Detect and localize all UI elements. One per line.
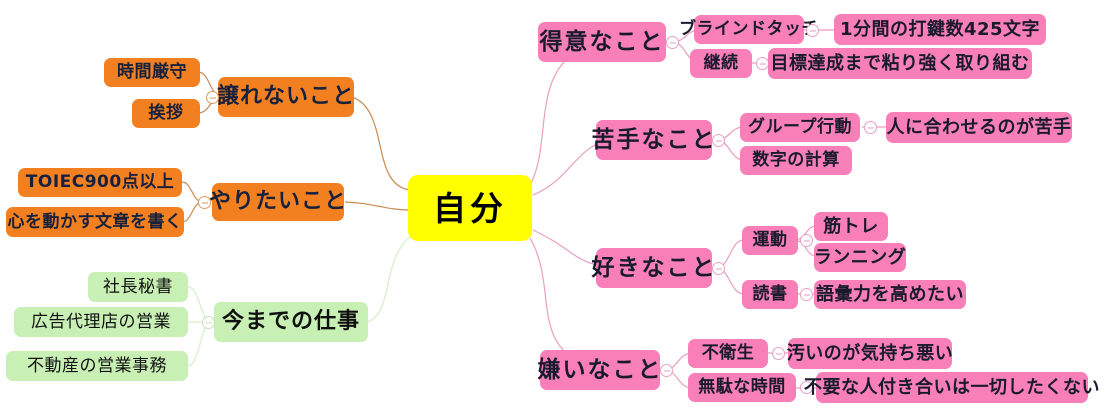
leaf-node-strength-training[interactable]: 筋トレ [814, 212, 888, 241]
child-label: 時間厳守 [117, 64, 187, 81]
collapse-toggle-kirai[interactable] [660, 364, 673, 377]
branch-label: 得意なこと [540, 31, 665, 54]
child-label: 無駄な時間 [698, 379, 786, 396]
child-node-secretary[interactable]: 社長秘書 [88, 272, 188, 302]
child-label: ブラインドタッチ [679, 21, 819, 38]
leaf-node-perseverance[interactable]: 目標達成まで粘り強く取り組む [768, 48, 1032, 79]
leaf-label: 不要な人付き合いは一切したくない [804, 379, 1100, 397]
branch-node-yaritai[interactable]: やりたいこと [212, 183, 344, 221]
branch-label: 譲れないこと [217, 86, 355, 108]
leaf-node-hard-to-adapt[interactable]: 人に合わせるのが苦手 [886, 112, 1072, 143]
branch-node-shigoto[interactable]: 今までの仕事 [214, 302, 368, 342]
child-node-realestate-admin[interactable]: 不動産の営業事務 [6, 351, 188, 381]
collapse-toggle-yuzurenai[interactable] [206, 91, 219, 104]
leaf-node-typing-speed[interactable]: 1分間の打鍵数425文字 [834, 14, 1046, 45]
root-node[interactable]: 自分 [408, 175, 532, 241]
branch-node-kirai[interactable]: 嫌いなこと [540, 350, 660, 390]
child-node-reading[interactable]: 読書 [742, 280, 798, 309]
collapse-toggle-yaritai[interactable] [198, 196, 211, 209]
collapse-toggle-suki[interactable] [712, 262, 725, 275]
child-label: 継続 [704, 55, 739, 72]
root-label: 自分 [433, 192, 507, 225]
child-node-blind-touch[interactable]: ブラインドタッチ [694, 15, 804, 44]
branch-node-suki[interactable]: 好きなこと [596, 248, 712, 288]
collapse-toggle-unsanitary[interactable] [772, 347, 785, 360]
leaf-node-dirty-uncomfortable[interactable]: 汚いのが気持ち悪い [788, 338, 952, 369]
child-label: 心を動かす文章を書く [8, 214, 183, 231]
branch-label: 嫌いなこと [538, 359, 663, 382]
branch-label: やりたいこと [209, 191, 347, 213]
leaf-node-running[interactable]: ランニング [814, 243, 906, 272]
branch-node-nigate[interactable]: 苦手なこと [596, 120, 712, 160]
child-label: 挨拶 [149, 105, 184, 122]
collapse-toggle-blind-touch[interactable] [806, 24, 819, 37]
child-label: 運動 [753, 232, 788, 249]
branch-label: 苦手なこと [592, 129, 717, 152]
child-node-ad-agency-sales[interactable]: 広告代理店の営業 [14, 307, 188, 337]
collapse-toggle-group-action[interactable] [864, 121, 877, 134]
leaf-node-vocabulary[interactable]: 語彙力を高めたい [814, 280, 966, 309]
branch-label: 今までの仕事 [222, 311, 360, 333]
collapse-toggle-shigoto[interactable] [202, 316, 215, 329]
leaf-label: 1分間の打鍵数425文字 [840, 21, 1040, 39]
leaf-label: 人に合わせるのが苦手 [887, 119, 1072, 137]
child-node-math[interactable]: 数字の計算 [740, 146, 852, 175]
leaf-node-no-unnecessary-socializing[interactable]: 不要な人付き合いは一切したくない [816, 372, 1088, 403]
branch-node-yuzurenai[interactable]: 譲れないこと [218, 77, 354, 117]
child-node-unsanitary[interactable]: 不衛生 [688, 339, 768, 368]
child-node-writing[interactable]: 心を動かす文章を書く [6, 207, 184, 237]
branch-node-tokui[interactable]: 得意なこと [538, 22, 666, 62]
child-label: 不衛生 [702, 345, 755, 362]
collapse-toggle-reading[interactable] [800, 288, 813, 301]
child-label: グループ行動 [748, 119, 852, 136]
collapse-toggle-nigate[interactable] [712, 134, 725, 147]
leaf-label: 目標達成まで粘り強く取り組む [771, 55, 1030, 73]
child-node-keizoku[interactable]: 継続 [690, 49, 752, 78]
child-label: TOIEC900点以上 [26, 174, 174, 191]
leaf-label: 筋トレ [823, 218, 879, 236]
leaf-label: 語彙力を高めたい [816, 286, 964, 304]
child-label: 広告代理店の営業 [31, 314, 171, 331]
child-label: 社長秘書 [103, 279, 173, 296]
child-label: 読書 [753, 286, 788, 303]
child-label: 数字の計算 [752, 152, 840, 169]
leaf-label: ランニング [814, 249, 907, 267]
child-node-exercise[interactable]: 運動 [742, 226, 798, 255]
collapse-toggle-tokui[interactable] [666, 36, 679, 49]
child-label: 不動産の営業事務 [27, 358, 167, 375]
child-node-punctuality[interactable]: 時間厳守 [104, 58, 200, 87]
child-node-toeic[interactable]: TOIEC900点以上 [18, 168, 182, 197]
branch-label: 好きなこと [592, 257, 717, 280]
collapse-toggle-exercise[interactable] [800, 234, 813, 247]
leaf-label: 汚いのが気持ち悪い [787, 345, 954, 363]
mindmap-canvas: 自分 得意なこと ブラインドタッチ 1分間の打鍵数425文字 継続 目標達成まで… [0, 0, 1108, 416]
child-node-wasted-time[interactable]: 無駄な時間 [688, 373, 796, 402]
child-node-group-action[interactable]: グループ行動 [740, 113, 860, 142]
child-node-greeting[interactable]: 挨拶 [132, 99, 200, 128]
